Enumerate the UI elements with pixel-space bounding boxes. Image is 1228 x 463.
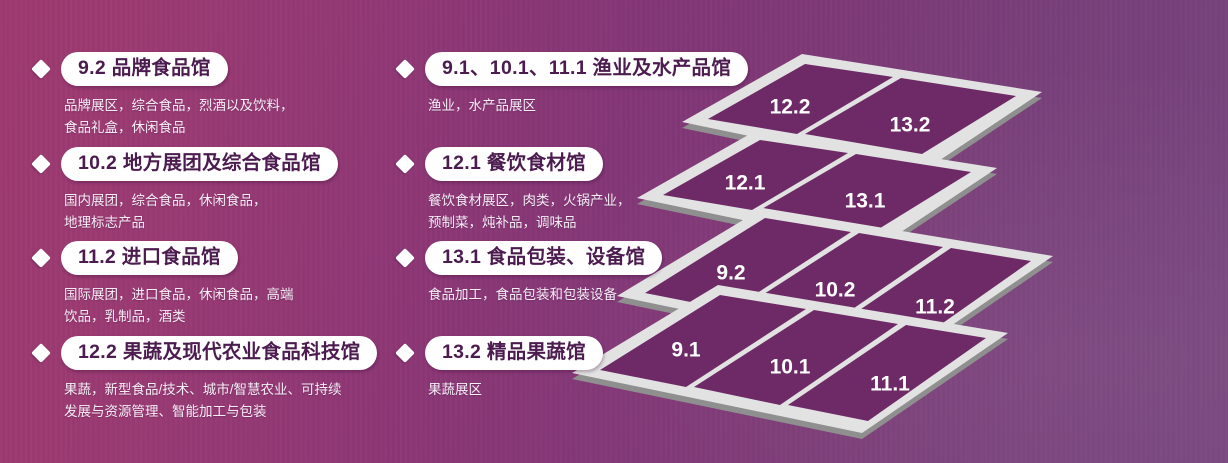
hall-badge[interactable]: 13.2 精品果蔬馆	[425, 336, 603, 370]
diamond-bullet-icon	[395, 248, 415, 268]
diamond-bullet-icon	[31, 343, 51, 363]
hall-description: 餐饮食材展区，肉类，火锅产业， 预制菜，炖补品，调味品	[428, 190, 631, 234]
hall-description: 国内展团，综合食品，休闲食品， 地理标志产品	[64, 190, 338, 234]
diamond-bullet-icon	[31, 248, 51, 268]
hall-entry-13-2[interactable]: 13.2 精品果蔬馆 果蔬展区	[398, 336, 603, 401]
hall-entry-13-1[interactable]: 13.1 食品包装、设备馆 食品加工，食品包装和包装设备	[398, 241, 662, 306]
hall-entry-header: 12.1 餐饮食材馆	[398, 147, 631, 181]
hall-entry-header: 10.2 地方展团及综合食品馆	[34, 147, 338, 181]
hall-entry-header: 13.2 精品果蔬馆	[398, 336, 603, 370]
hall-list: 9.2 品牌食品馆 品牌展区，综合食品，烈酒以及饮料， 食品礼盒，休闲食品 10…	[0, 0, 790, 463]
hall-description: 品牌展区，综合食品，烈酒以及饮料， 食品礼盒，休闲食品	[64, 95, 294, 139]
hall-entry-header: 9.2 品牌食品馆	[34, 52, 294, 86]
hall-description: 国际展团，进口食品，休闲食品，高端 饮品，乳制品，酒类	[64, 284, 294, 328]
hall-badge[interactable]: 12.1 餐饮食材馆	[425, 147, 603, 181]
hall-badge[interactable]: 13.1 食品包装、设备馆	[425, 241, 662, 275]
diamond-bullet-icon	[31, 59, 51, 79]
hall-entry-12-2[interactable]: 12.2 果蔬及现代农业食品科技馆 果蔬，新型食品/技术、城市/智慧农业、可持续…	[34, 336, 377, 423]
diamond-bullet-icon	[395, 59, 415, 79]
hall-entry-10-2[interactable]: 10.2 地方展团及综合食品馆 国内展团，综合食品，休闲食品， 地理标志产品	[34, 147, 338, 234]
diamond-bullet-icon	[395, 154, 415, 174]
hall-entry-9-2[interactable]: 9.2 品牌食品馆 品牌展区，综合食品，烈酒以及饮料， 食品礼盒，休闲食品	[34, 52, 294, 139]
floor-cell-label: 11.1	[870, 373, 910, 396]
hall-entry-9-1-10-1-11-1[interactable]: 9.1、10.1、11.1 渔业及水产品馆 渔业，水产品展区	[398, 52, 748, 117]
hall-badge[interactable]: 10.2 地方展团及综合食品馆	[61, 147, 338, 181]
hall-entry-header: 13.1 食品包装、设备馆	[398, 241, 662, 275]
hall-badge[interactable]: 9.1、10.1、11.1 渔业及水产品馆	[425, 52, 748, 86]
hall-entry-header: 9.1、10.1、11.1 渔业及水产品馆	[398, 52, 748, 86]
hall-description: 食品加工，食品包装和包装设备	[428, 284, 662, 306]
hall-description: 果蔬，新型食品/技术、城市/智慧农业、可持续 发展与资源管理、智能加工与包装	[64, 379, 377, 423]
hall-badge[interactable]: 11.2 进口食品馆	[61, 241, 238, 275]
hall-entry-header: 11.2 进口食品馆	[34, 241, 294, 275]
hall-layout-infographic: 9.2 品牌食品馆 品牌展区，综合食品，烈酒以及饮料， 食品礼盒，休闲食品 10…	[0, 0, 1228, 463]
diamond-bullet-icon	[31, 154, 51, 174]
hall-description: 渔业，水产品展区	[428, 95, 748, 117]
hall-badge[interactable]: 12.2 果蔬及现代农业食品科技馆	[61, 336, 377, 370]
hall-description: 果蔬展区	[428, 379, 603, 401]
hall-badge[interactable]: 9.2 品牌食品馆	[61, 52, 228, 86]
hall-entry-header: 12.2 果蔬及现代农业食品科技馆	[34, 336, 377, 370]
hall-entry-11-2[interactable]: 11.2 进口食品馆 国际展团，进口食品，休闲食品，高端 饮品，乳制品，酒类	[34, 241, 294, 328]
diamond-bullet-icon	[395, 343, 415, 363]
hall-entry-12-1[interactable]: 12.1 餐饮食材馆 餐饮食材展区，肉类，火锅产业， 预制菜，炖补品，调味品	[398, 147, 631, 234]
